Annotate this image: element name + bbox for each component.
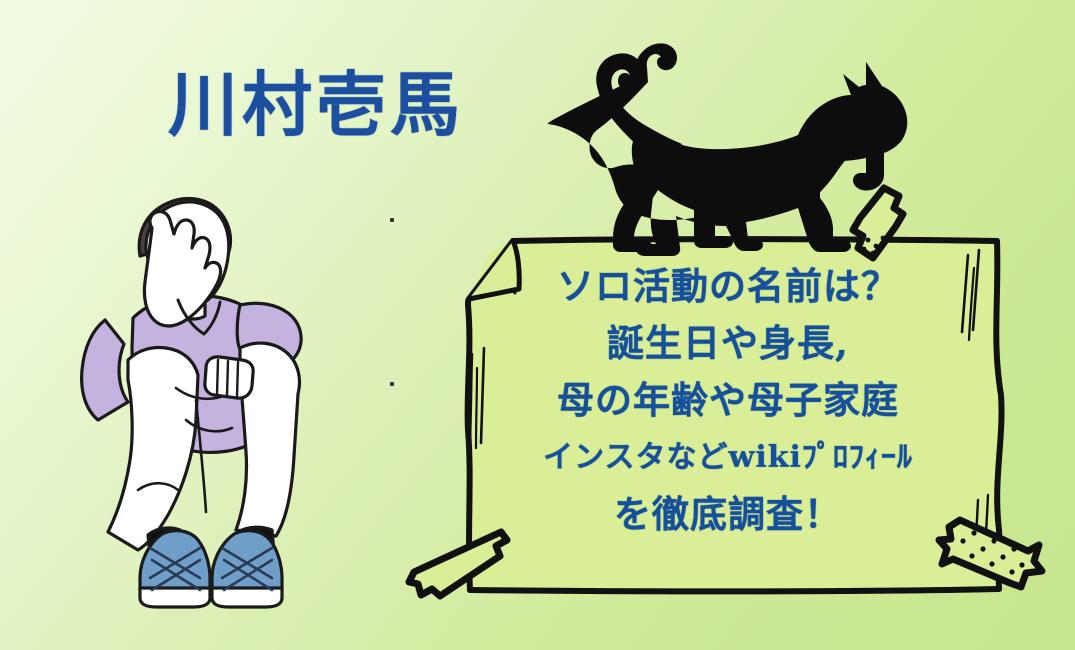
person-left-leg [108, 348, 198, 551]
page-title: 川村壱馬 [168, 62, 528, 148]
person-illustration [0, 0, 1075, 650]
speck-upper [390, 218, 394, 222]
speck-lower [390, 382, 394, 386]
person-left-sleeve [82, 320, 128, 420]
poster-canvas: ソロ活動の名前は？ 誕生日や身長, 母の年齢や母子家庭 インスタなどwikiﾌﾟ… [0, 0, 1075, 650]
